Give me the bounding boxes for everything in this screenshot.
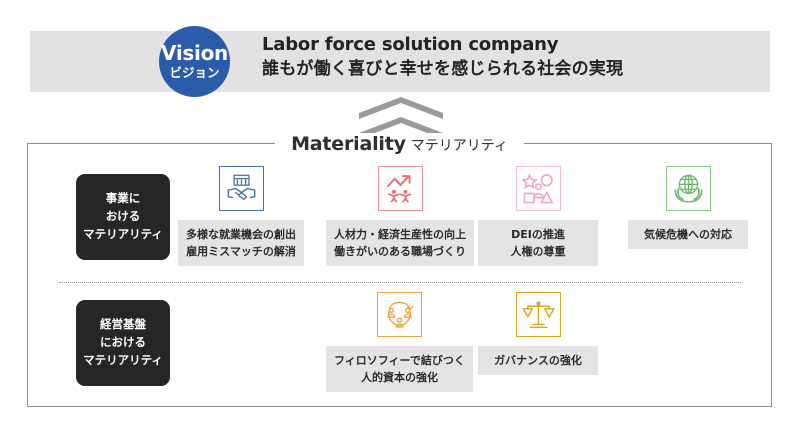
materiality-title-en: Materiality — [291, 133, 406, 155]
materiality-items-business: 多様な就業機会の創出 雇用ミスマッチの解消 — [178, 166, 768, 276]
materiality-item[interactable]: フィロソフィーで結びつく 人的資本の強化 — [326, 292, 473, 392]
materiality-item-caption: ガバナンスの強化 — [478, 346, 598, 375]
caption-line: DEIの推進 — [486, 226, 590, 243]
materiality-item-caption: 人材力・経済生産性の向上 働きがいのある職場づくり — [326, 220, 474, 266]
diverse-shapes-person-icon — [516, 166, 561, 211]
caption-line: 人材力・経済生産性の向上 — [334, 226, 466, 243]
row-divider — [59, 282, 741, 283]
globe-in-hands-icon — [666, 166, 711, 211]
caption-line: 雇用ミスマッチの解消 — [186, 243, 296, 260]
materiality-item[interactable]: DEIの推進 人権の尊重 — [478, 166, 598, 266]
materiality-item[interactable]: ガバナンスの強化 — [478, 292, 598, 375]
materiality-item[interactable]: 人材力・経済生産性の向上 働きがいのある職場づくり — [326, 166, 474, 266]
materiality-item[interactable]: 気候危機への対応 — [628, 166, 748, 249]
materiality-panel: 事業に おける マテリアリティ — [27, 143, 772, 407]
row-label-management: 経営基盤 における マテリアリティ — [76, 300, 170, 386]
materiality-title: Materiality マテリアリティ — [275, 133, 524, 155]
caption-line: ガバナンスの強化 — [486, 352, 590, 369]
row-label-line: における — [100, 334, 146, 352]
caption-line: 人的資本の強化 — [334, 369, 465, 386]
row-label-line: 事業に — [106, 190, 141, 208]
materiality-item-caption: 多様な就業機会の創出 雇用ミスマッチの解消 — [178, 220, 304, 266]
caption-line: 多様な就業機会の創出 — [186, 226, 296, 243]
materiality-title-wrap: Materiality マテリアリティ — [27, 131, 772, 157]
vision-badge: Vision ビジョン — [159, 26, 230, 97]
materiality-item[interactable]: 多様な就業機会の創出 雇用ミスマッチの解消 — [178, 166, 304, 266]
growth-arrow-people-icon — [378, 166, 423, 211]
vision-headline: Labor force solution company — [262, 33, 623, 57]
vision-badge-en: Vision — [161, 43, 228, 64]
handshake-building-icon — [219, 166, 264, 211]
caption-line: 人権の尊重 — [486, 243, 590, 260]
vision-text-block: Labor force solution company 誰もが働く喜びと幸せを… — [262, 33, 623, 82]
materiality-title-jp: マテリアリティ — [411, 135, 508, 155]
materiality-items-management: フィロソフィーで結びつく 人的資本の強化 — [178, 292, 768, 402]
materiality-row-business: 事業に おける マテリアリティ — [28, 166, 773, 276]
materiality-item-caption: フィロソフィーで結びつく 人的資本の強化 — [326, 346, 473, 392]
row-label-business: 事業に おける マテリアリティ — [76, 174, 170, 260]
row-label-line: マテリアリティ — [83, 226, 163, 244]
caption-line: フィロソフィーで結びつく — [334, 352, 465, 369]
row-label-line: 経営基盤 — [100, 316, 146, 334]
materiality-item-caption: DEIの推進 人権の尊重 — [478, 220, 598, 266]
materiality-item-caption: 気候危機への対応 — [628, 220, 748, 249]
vision-subline: 誰もが働く喜びと幸せを感じられる社会の実現 — [262, 57, 623, 82]
materiality-row-management: 経営基盤 における マテリアリティ — [28, 292, 773, 402]
connected-people-circle-icon — [377, 292, 422, 337]
vision-badge-jp: ビジョン — [169, 66, 219, 79]
row-label-line: マテリアリティ — [83, 352, 163, 370]
row-label-line: おける — [106, 208, 141, 226]
caption-line: 働きがいのある職場づくり — [334, 243, 466, 260]
caption-line: 気候危機への対応 — [636, 226, 740, 243]
balance-scales-icon — [516, 292, 561, 337]
